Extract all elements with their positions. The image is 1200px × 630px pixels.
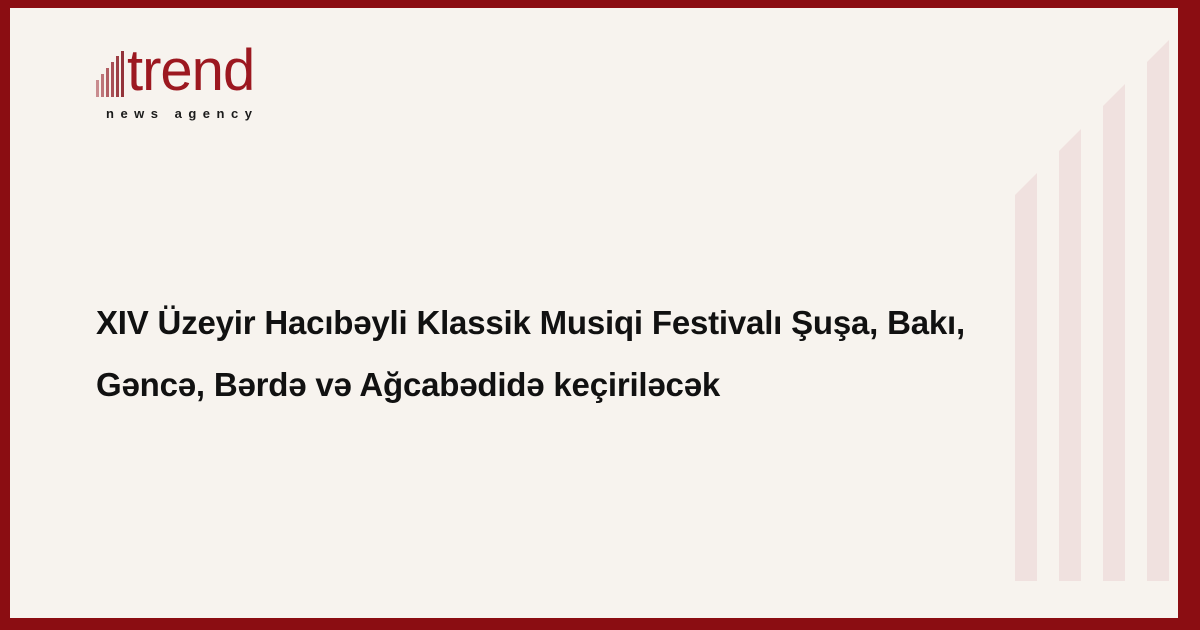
- page-title: XIV Üzeyir Hacıbəyli Klassik Musiqi Fest…: [96, 292, 976, 416]
- decor-bar-4: [1147, 40, 1169, 581]
- decor-bar-bevel: [1015, 173, 1037, 195]
- decor-bar-1: [1015, 173, 1037, 581]
- decor-bar-2: [1059, 129, 1081, 581]
- card-canvas: trend news agency XIV Üzeyir Hacıbəyli K…: [10, 8, 1178, 618]
- logo-wordmark: trend: [127, 42, 254, 100]
- trend-logo[interactable]: trend news agency: [96, 38, 326, 121]
- share-card: trend news agency XIV Üzeyir Hacıbəyli K…: [0, 0, 1200, 630]
- ascending-bars-graphic: [998, 8, 1178, 618]
- decor-bar-bevel: [1103, 84, 1125, 106]
- decor-bar-3: [1103, 84, 1125, 581]
- decor-bar-bevel: [1059, 129, 1081, 151]
- logo-row: trend: [96, 38, 326, 100]
- ascending-bars-mark-icon: [96, 51, 126, 97]
- logo-tagline: news agency: [106, 106, 326, 121]
- decor-bar-bevel: [1147, 40, 1169, 62]
